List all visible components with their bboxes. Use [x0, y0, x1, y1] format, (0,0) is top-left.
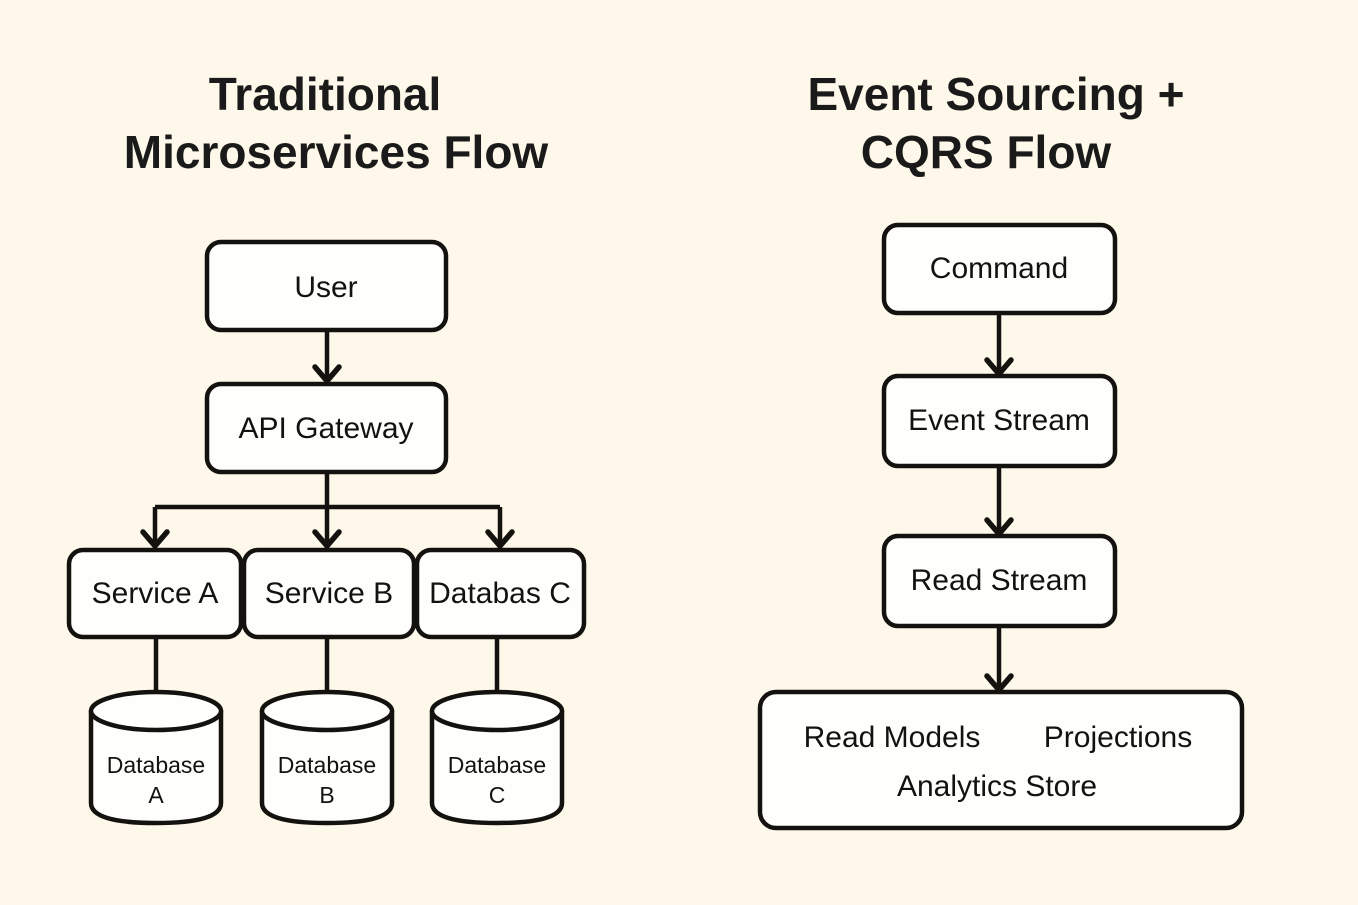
left-title-line-2: Microservices Flow — [124, 126, 549, 178]
node-user-label: User — [294, 271, 357, 304]
right-panel-edges — [987, 313, 1011, 690]
diagram-canvas: Traditional Microservices Flow Event Sou… — [0, 0, 1358, 905]
node-database-a-top[interactable] — [91, 692, 221, 730]
node-database-a-label-line-1: Database — [107, 752, 205, 778]
node-event-stream-label: Event Stream — [908, 404, 1090, 437]
diagram-svg: Traditional Microservices Flow Event Sou… — [0, 0, 1358, 905]
edge-read-stream-to-read-store — [987, 626, 1011, 690]
node-databas-c-label: Databas C — [429, 577, 571, 610]
node-database-a-label-line-2: A — [148, 782, 164, 808]
node-command-label: Command — [930, 252, 1068, 285]
node-database-c[interactable]: Database C — [432, 692, 562, 823]
node-database-b[interactable]: Database B — [262, 692, 392, 823]
node-database-c-label-line-1: Database — [448, 752, 546, 778]
right-title-line-2: CQRS Flow — [861, 126, 1112, 178]
node-service-b-label: Service B — [265, 577, 393, 610]
node-database-c-top[interactable] — [432, 692, 562, 730]
node-api-gateway[interactable]: API Gateway — [207, 384, 446, 472]
edge-event-stream-to-read-stream — [987, 466, 1011, 534]
node-database-a[interactable]: Database A — [91, 692, 221, 823]
node-read-store[interactable]: Read Models Projections Analytics Store — [760, 692, 1242, 828]
left-title-line-1: Traditional — [209, 68, 442, 120]
node-read-models-label: Read Models — [804, 721, 981, 754]
node-read-store-shape[interactable] — [760, 692, 1242, 828]
edge-api-gateway-fanout — [143, 472, 512, 546]
node-service-b[interactable]: Service B — [244, 550, 414, 637]
right-title-line-1: Event Sourcing + — [807, 68, 1184, 120]
node-databas-c[interactable]: Databas C — [417, 550, 584, 637]
node-database-b-label-line-1: Database — [278, 752, 376, 778]
node-database-b-top[interactable] — [262, 692, 392, 730]
node-analytics-store-label: Analytics Store — [897, 770, 1097, 803]
right-panel-title: Event Sourcing + CQRS Flow — [807, 68, 1184, 178]
node-command[interactable]: Command — [884, 225, 1115, 313]
edge-command-to-event-stream — [987, 313, 1011, 374]
node-service-a[interactable]: Service A — [69, 550, 241, 637]
node-read-stream[interactable]: Read Stream — [884, 536, 1115, 626]
node-api-gateway-label: API Gateway — [238, 412, 413, 445]
node-projections-label: Projections — [1044, 721, 1192, 754]
node-user[interactable]: User — [207, 242, 446, 330]
node-event-stream[interactable]: Event Stream — [884, 376, 1115, 466]
node-database-c-label-line-2: C — [489, 782, 506, 808]
left-panel-title: Traditional Microservices Flow — [124, 68, 549, 178]
node-read-stream-label: Read Stream — [911, 564, 1088, 597]
node-service-a-label: Service A — [92, 577, 219, 610]
edge-user-to-api-gateway — [315, 330, 339, 381]
node-database-b-label-line-2: B — [319, 782, 334, 808]
